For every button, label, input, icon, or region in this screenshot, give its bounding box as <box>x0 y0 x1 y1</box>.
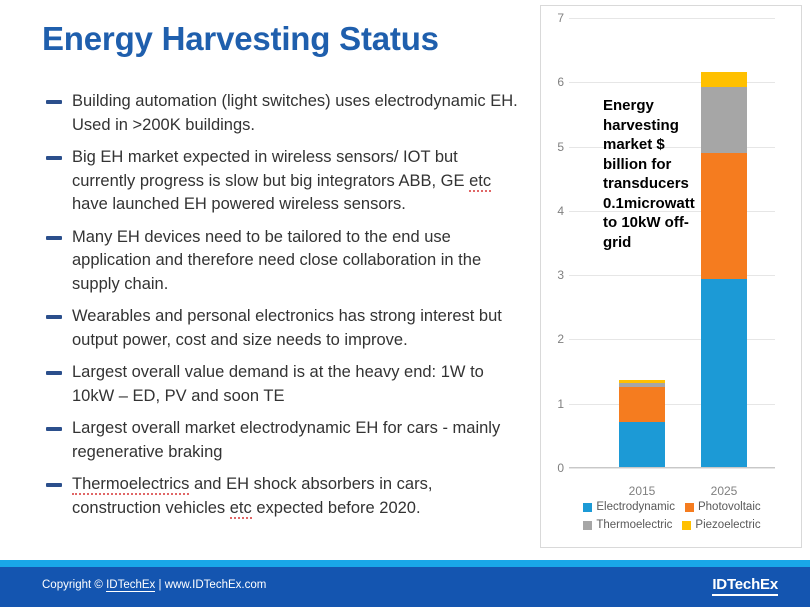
chart-annotation-text: Energy harvesting market $ billion for t… <box>603 96 707 252</box>
dash-bullet-icon <box>46 100 62 104</box>
content-column: Energy Harvesting Status Building automa… <box>0 0 530 555</box>
dash-bullet-icon <box>46 315 62 319</box>
y-axis-tick-label: 2 <box>557 332 564 346</box>
dash-bullet-icon <box>46 483 62 487</box>
bullet-text: Thermoelectrics and EH shock absorbers i… <box>72 475 432 519</box>
bar-segment-piezoelectric[interactable] <box>701 72 747 87</box>
chart-panel[interactable]: 01234567 20152025 Energy harvesting mark… <box>540 5 802 548</box>
legend-swatch-icon <box>583 503 592 512</box>
y-axis-tick-label: 1 <box>557 397 564 411</box>
footer-copyright: Copyright © IDTechEx | www.IDTechEx.com <box>42 579 266 591</box>
spellcheck-word: Thermoelectrics <box>72 475 189 495</box>
bullet-text: Building automation (light switches) use… <box>72 92 518 134</box>
legend-item-piezoelectric[interactable]: Piezoelectric <box>682 519 760 531</box>
idtechex-logo: IDTechEx <box>712 576 778 596</box>
chart-baseline <box>569 467 775 468</box>
gridline: 0 <box>569 468 775 469</box>
footer-website-link[interactable]: www.IDTechEx.com <box>165 579 267 591</box>
legend-label: Photovoltaic <box>698 501 761 513</box>
bullet-item-7: Thermoelectrics and EH shock absorbers i… <box>44 473 524 520</box>
bullet-item-2: Big EH market expected in wireless senso… <box>44 146 524 217</box>
legend-item-electrodynamic[interactable]: Electrodynamic <box>583 501 675 513</box>
bullet-text: Largest overall market electrodynamic EH… <box>72 419 500 461</box>
dash-bullet-icon <box>46 156 62 160</box>
chart-legend: ElectrodynamicPhotovoltaicThermoelectric… <box>541 501 803 531</box>
bullet-item-6: Largest overall market electrodynamic EH… <box>44 417 524 464</box>
bar-segment-photovoltaic[interactable] <box>701 153 747 278</box>
legend-label: Piezoelectric <box>695 519 760 531</box>
footer-brand-link[interactable]: IDTechEx <box>106 579 155 592</box>
dash-bullet-icon <box>46 371 62 375</box>
stacked-bar-2025[interactable] <box>701 72 747 467</box>
bar-segment-thermoelectric[interactable] <box>701 87 747 153</box>
bullet-item-3: Many EH devices need to be tailored to t… <box>44 226 524 297</box>
dash-bullet-icon <box>46 427 62 431</box>
footer-bar: Copyright © IDTechEx | www.IDTechEx.com … <box>0 567 810 607</box>
y-axis-tick-label: 5 <box>557 140 564 154</box>
legend-item-thermoelectric[interactable]: Thermoelectric <box>583 519 672 531</box>
bar-segment-electrodynamic[interactable] <box>701 279 747 467</box>
y-axis-tick-label: 0 <box>557 461 564 475</box>
bullet-item-5: Largest overall value demand is at the h… <box>44 361 524 408</box>
y-axis-tick-label: 6 <box>557 75 564 89</box>
footer-separator: | <box>155 579 164 591</box>
legend-item-photovoltaic[interactable]: Photovoltaic <box>685 501 761 513</box>
bar-segment-electrodynamic[interactable] <box>619 422 665 467</box>
footer-accent-strip <box>0 560 810 567</box>
legend-label: Thermoelectric <box>596 519 672 531</box>
stacked-bar-2015[interactable] <box>619 380 665 467</box>
legend-swatch-icon <box>682 521 691 530</box>
y-axis-tick-label: 3 <box>557 268 564 282</box>
x-axis-label-2025: 2025 <box>684 484 764 498</box>
bullet-text: Big EH market expected in wireless senso… <box>72 148 491 213</box>
spellcheck-word: etc <box>230 499 252 519</box>
bullet-item-4: Wearables and personal electronics has s… <box>44 305 524 352</box>
legend-swatch-icon <box>685 503 694 512</box>
gridline: 7 <box>569 18 775 19</box>
copyright-prefix: Copyright © <box>42 579 106 591</box>
y-axis-tick-label: 4 <box>557 204 564 218</box>
bullet-item-1: Building automation (light switches) use… <box>44 90 524 137</box>
y-axis-tick-label: 7 <box>557 11 564 25</box>
x-axis-label-2015: 2015 <box>602 484 682 498</box>
legend-swatch-icon <box>583 521 592 530</box>
bullet-text: Wearables and personal electronics has s… <box>72 307 502 349</box>
bullet-text: Largest overall value demand is at the h… <box>72 363 484 405</box>
bullet-list: Building automation (light switches) use… <box>44 90 524 529</box>
page-title: Energy Harvesting Status <box>42 20 439 58</box>
bullet-text: Many EH devices need to be tailored to t… <box>72 228 481 293</box>
dash-bullet-icon <box>46 236 62 240</box>
bar-segment-photovoltaic[interactable] <box>619 387 665 422</box>
slide-canvas: Energy Harvesting Status Building automa… <box>0 0 810 607</box>
legend-label: Electrodynamic <box>596 501 675 513</box>
spellcheck-word: etc <box>469 172 491 192</box>
